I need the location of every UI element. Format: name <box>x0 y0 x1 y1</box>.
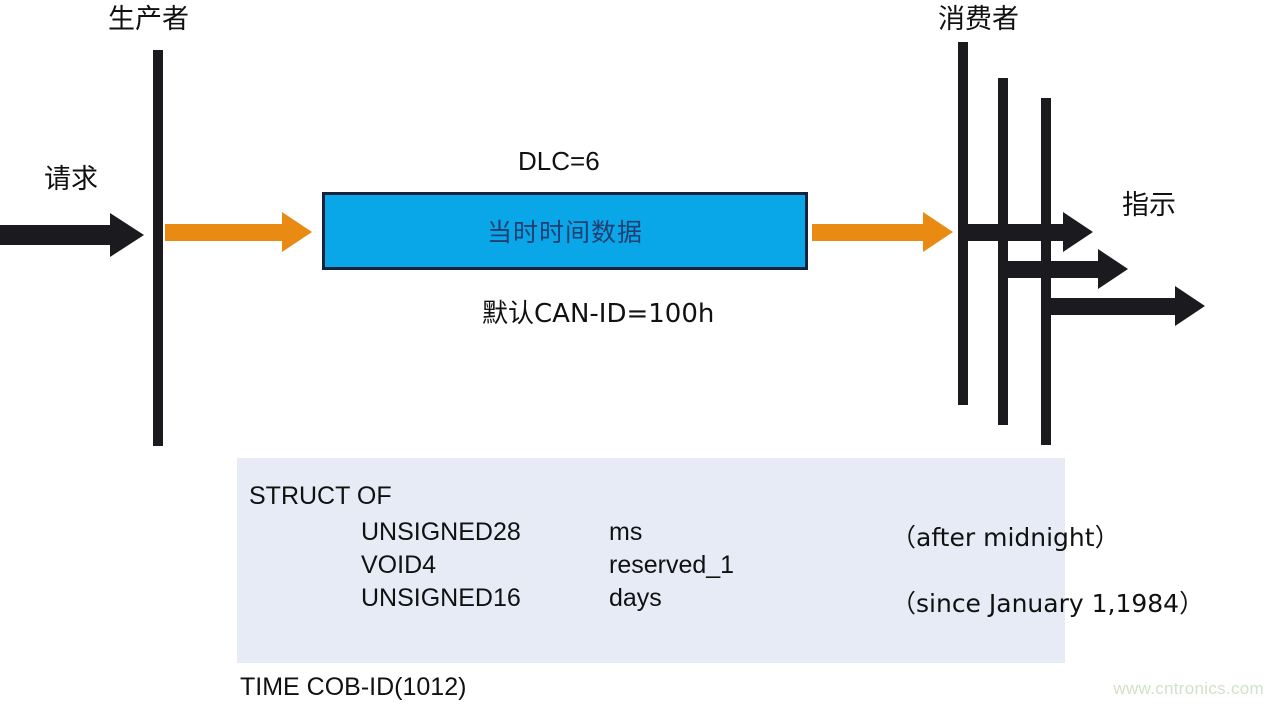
consumer-lifeline-2 <box>998 78 1008 425</box>
diagram-canvas: 生产者 消费者 请求 DLC=6 当时时间数据 默认CAN-ID=100h 指示… <box>0 0 1280 709</box>
indication-arrow-3-shaft <box>1041 298 1179 315</box>
indication-arrow-1-shaft <box>958 224 1068 241</box>
producer-to-frame-shaft <box>165 224 283 241</box>
cob-id-label: TIME COB-ID(1012) <box>240 675 466 700</box>
data-frame-box: 当时时间数据 <box>322 192 808 270</box>
data-frame-label: 当时时间数据 <box>487 213 643 249</box>
struct-row-note: （after midnight） <box>891 518 1120 554</box>
struct-definition-panel: STRUCT OF UNSIGNED28 ms （after midnight）… <box>237 458 1065 663</box>
indication-arrow-2-head <box>1098 249 1128 289</box>
indication-arrow-1-head <box>1063 212 1093 252</box>
struct-header: STRUCT OF <box>249 482 392 511</box>
frame-to-consumer-head <box>923 212 953 252</box>
indication-arrow-2-shaft <box>998 261 1102 278</box>
indication-label: 指示 <box>1122 192 1176 219</box>
consumer-title: 消费者 <box>938 6 1019 33</box>
can-id-label: 默认CAN-ID=100h <box>482 301 714 327</box>
producer-lifeline <box>153 50 163 446</box>
struct-row-type: UNSIGNED16 <box>361 584 521 613</box>
request-label: 请求 <box>44 166 98 193</box>
site-watermark: www.cntronics.com <box>1113 679 1264 699</box>
struct-row-name: ms <box>609 518 642 547</box>
frame-to-consumer-shaft <box>812 224 924 241</box>
struct-row-type: UNSIGNED28 <box>361 518 521 547</box>
struct-row-type: VOID4 <box>361 551 436 580</box>
indication-arrow-3-head <box>1175 286 1205 326</box>
struct-row-name: reserved_1 <box>609 551 734 580</box>
producer-to-frame-head <box>282 212 312 252</box>
request-arrow-shaft <box>0 225 112 245</box>
request-arrow-head <box>110 213 144 257</box>
struct-row-name: days <box>609 584 662 613</box>
producer-title: 生产者 <box>108 6 189 33</box>
dlc-label: DLC=6 <box>518 148 600 174</box>
struct-row-note: （since January 1,1984） <box>891 584 1204 620</box>
